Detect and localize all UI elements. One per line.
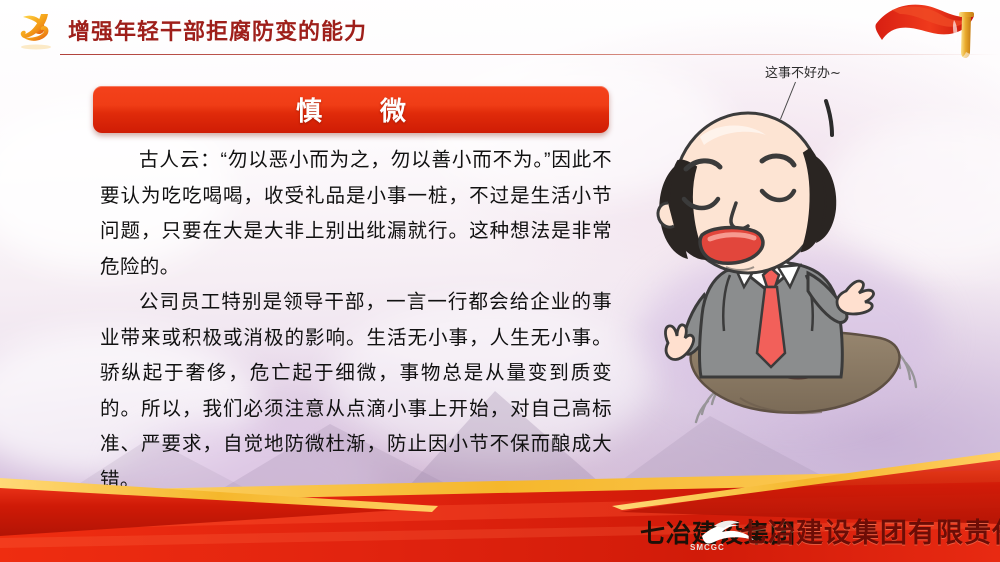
bald-official-cartoon: 贪 — [630, 95, 980, 455]
red-flag-with-golden-column-icon — [870, 0, 1000, 58]
page-title: 增强年轻干部拒腐防变的能力 — [68, 14, 367, 46]
logo-subtext: SMCGC — [690, 543, 725, 552]
speech-bubble-text: 这事不好办~ — [765, 62, 841, 81]
hammer-sickle-emblem-icon — [14, 10, 62, 52]
section-title-text: 慎 微 — [280, 91, 422, 128]
body-text-block: 古人云：“勿以恶小而为之，勿以善小而不为。”因此不要认为吃吃喝喝，收受礼品是小事… — [100, 143, 612, 498]
section-title-banner: 慎 微 — [93, 86, 609, 133]
slide-header: 增强年轻干部拒腐防变的能力 — [0, 0, 1000, 60]
paragraph-1: 古人云：“勿以恶小而为之，勿以善小而不为。”因此不要认为吃吃喝喝，收受礼品是小事… — [100, 143, 612, 285]
slide-canvas: 增强年轻干部拒腐防变的能力 — [0, 0, 1000, 562]
header-divider — [60, 54, 1000, 55]
company-name-text: 七冶建设集团有限责任公司 — [740, 511, 1000, 550]
